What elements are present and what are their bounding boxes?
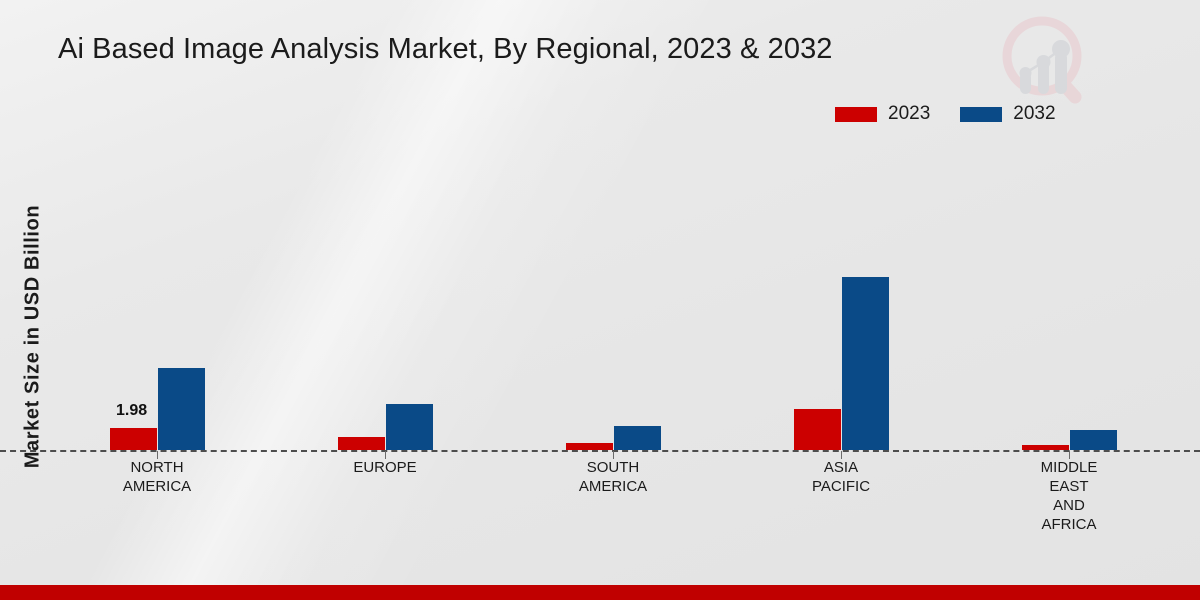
bar-2032-europe[interactable] [386,404,433,450]
watermark-logo-icon [995,14,1095,109]
legend-swatch-2032 [960,107,1002,122]
category-line: AFRICA [974,515,1164,534]
category-line: AMERICA [62,477,252,496]
bar-2032-north-america[interactable] [158,368,205,450]
category-line: ASIA [746,458,936,477]
legend-label-2032: 2032 [1013,103,1055,125]
bar-value-label-north-america-2023: 1.98 [116,402,147,420]
category-line: EAST [974,477,1164,496]
chart-title: Ai Based Image Analysis Market, By Regio… [58,33,958,66]
bar-2023-north-america[interactable] [110,428,157,450]
plot-area: 1.98 [0,150,1200,450]
category-label-north-america: NORTH AMERICA [62,458,252,496]
category-line: EUROPE [290,458,480,477]
category-label-south-america: SOUTH AMERICA [518,458,708,496]
chart-figure: Ai Based Image Analysis Market, By Regio… [0,0,1200,600]
category-line: NORTH [62,458,252,477]
axis-baseline [0,450,1200,452]
category-line: MIDDLE [974,458,1164,477]
legend-item-2023[interactable]: 2023 [835,103,930,125]
bar-2023-asia-pacific[interactable] [794,409,841,450]
category-label-asia-pacific: ASIA PACIFIC [746,458,936,496]
category-line: SOUTH [518,458,708,477]
category-line: PACIFIC [746,477,936,496]
bar-chart-icon [1020,40,1071,94]
chart-legend: 2023 2032 [835,103,1056,125]
bottom-accent-bar [0,585,1200,600]
legend-label-2023: 2023 [888,103,930,125]
legend-item-2032[interactable]: 2032 [960,103,1055,125]
bar-2032-south-america[interactable] [614,426,661,450]
legend-swatch-2023 [835,107,877,122]
category-label-middle-east-and-africa: MIDDLE EAST AND AFRICA [974,458,1164,534]
category-line: AMERICA [518,477,708,496]
category-line: AND [974,496,1164,515]
bar-2032-middle-east-and-africa[interactable] [1070,430,1117,450]
bar-2023-south-america[interactable] [566,443,613,450]
bar-2023-europe[interactable] [338,437,385,450]
magnifier-glass-icon [1007,21,1084,106]
category-label-europe: EUROPE [290,458,480,477]
bar-2032-asia-pacific[interactable] [842,277,889,450]
